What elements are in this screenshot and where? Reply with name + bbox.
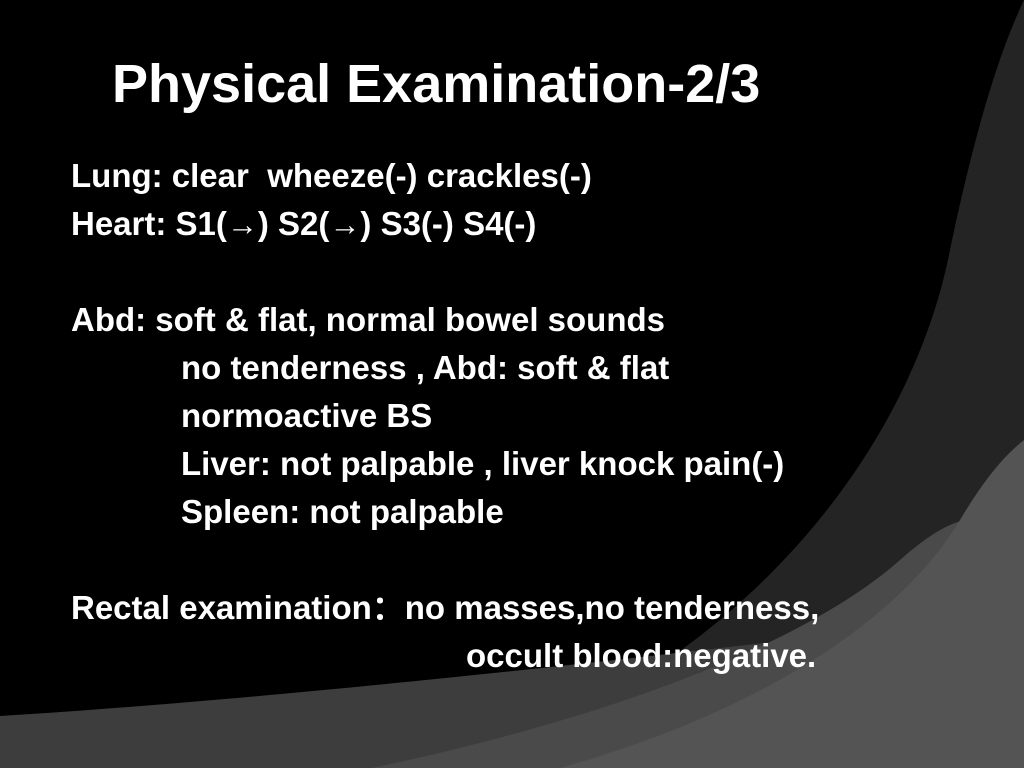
body-line-heart: Heart: S1(→) S2(→) S3(-) S4(-) — [0, 200, 1024, 248]
slide-title: Physical Examination-2/3 — [112, 57, 760, 111]
right-arrow-icon: → — [329, 207, 360, 242]
body-line-tender: no tenderness , Abd: soft & flat — [0, 344, 1024, 392]
body-line-spleen: Spleen: not palpable — [0, 488, 1024, 536]
body-line-lung: Lung: clear wheeze(-) crackles(-) — [0, 152, 1024, 200]
body-line-rectal: Rectal examination：no masses,no tenderne… — [0, 584, 1024, 632]
body-line-occult: occult blood:negative. — [0, 632, 1024, 680]
body-line-abd: Abd: soft & flat, normal bowel sounds — [0, 296, 1024, 344]
slide-body: Lung: clear wheeze(-) crackles(-)Heart: … — [0, 152, 1024, 680]
body-line-blank-1 — [0, 248, 1024, 296]
body-line-blank-2 — [0, 536, 1024, 584]
slide-canvas: Physical Examination-2/3 Lung: clear whe… — [0, 0, 1024, 768]
body-line-bs: normoactive BS — [0, 392, 1024, 440]
right-arrow-icon: → — [227, 207, 258, 242]
body-line-liver: Liver: not palpable , liver knock pain(-… — [0, 440, 1024, 488]
